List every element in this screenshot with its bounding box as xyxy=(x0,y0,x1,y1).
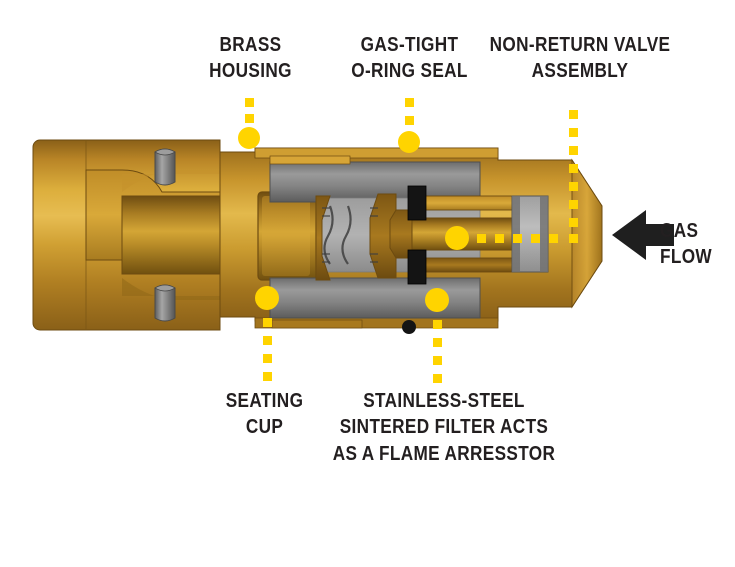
leader-oring-seal xyxy=(398,98,420,153)
callout-label-sintered-filter: STAINLESS-STEEL SINTERED FILTER ACTS AS … xyxy=(320,388,568,467)
housing-pin-top xyxy=(155,149,175,185)
oring-seal-top xyxy=(408,186,426,220)
diagram-stage xyxy=(0,0,735,567)
gas-flow-label: GAS FLOW xyxy=(660,218,735,271)
callout-label-seating-cup: SEATING CUP xyxy=(194,388,336,441)
seating-cup xyxy=(258,192,316,280)
housing-pin-bottom xyxy=(155,285,175,321)
oring-seal-lower-body xyxy=(402,320,416,334)
callout-label-non-return-valve: NON-RETURN VALVE ASSEMBLY xyxy=(473,32,688,85)
callout-label-oring-seal: GAS-TIGHT O-RING SEAL xyxy=(326,32,494,85)
brass-housing-left-flange xyxy=(33,140,226,330)
leader-seating-cup xyxy=(255,286,279,381)
non-return-valve-assembly xyxy=(390,186,548,284)
valve-cutaway-illustration xyxy=(0,0,735,567)
callout-label-brass-housing: BRASS HOUSING xyxy=(180,32,322,85)
oring-seal-bottom xyxy=(408,250,426,284)
leader-brass-housing xyxy=(238,98,260,149)
leader-sintered-filter xyxy=(425,288,449,383)
